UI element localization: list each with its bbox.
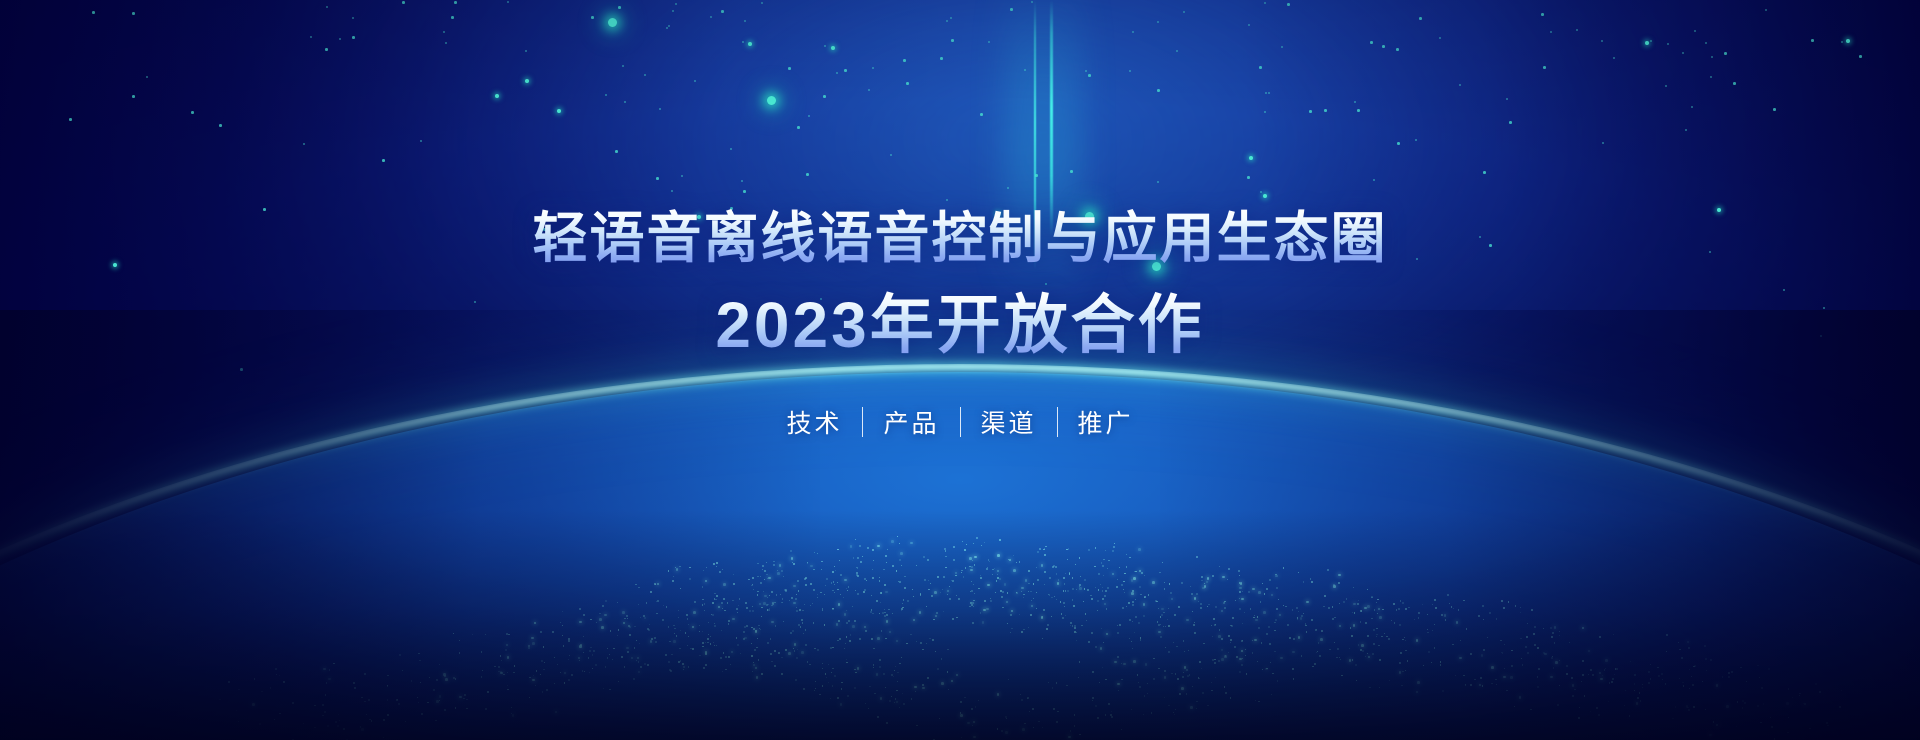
promo-banner: 轻语音离线语音控制与应用生态圈 2023年开放合作 技术产品渠道推广 [0,0,1920,740]
global-vignette [0,0,1920,740]
